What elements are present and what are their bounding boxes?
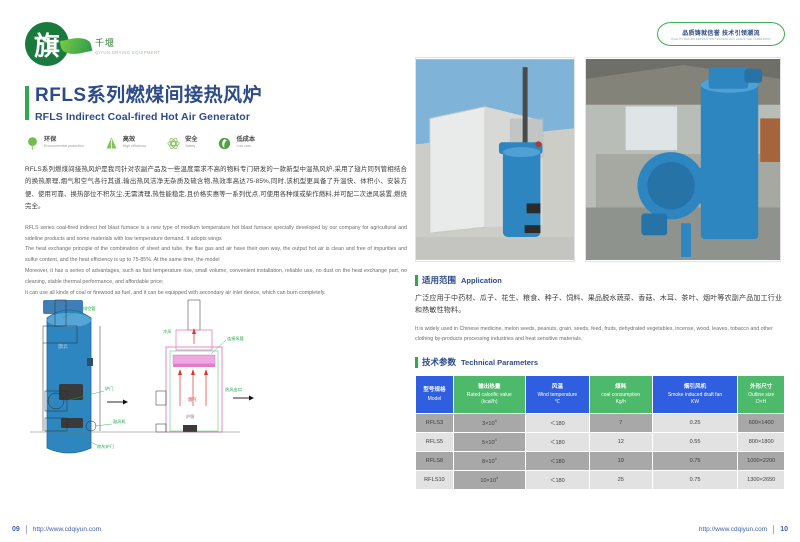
application-heading-cn: 适用范围: [422, 274, 456, 286]
technical-heading-cn: 技术参数: [422, 356, 456, 368]
footer-url-right[interactable]: http://www.cdqiyun.com: [699, 526, 767, 533]
product-schematic-diagram: 旗云 排空管 炉门 鼓风机 除灰炉门: [25, 288, 407, 503]
feature-label-en: Safety: [185, 144, 197, 148]
cell-size: 600×1400: [738, 414, 784, 432]
description-cn: RFLS系列燃煤间接热风炉是我司针对农副产品及一些温度需求不高的物料专门研发的一…: [25, 164, 407, 214]
diagram-label: 冷风: [163, 328, 172, 335]
product-photo-gallery: [415, 57, 785, 262]
cell-wind-temp: ＜180: [526, 471, 589, 489]
sprout-icon: [217, 136, 232, 151]
diagram-label: 连接风管: [227, 335, 244, 342]
col-unit: ℃: [555, 399, 561, 405]
cell-fan: 0.55: [653, 433, 738, 451]
cell-coal: 12: [590, 433, 652, 451]
col-unit: D×H: [756, 399, 766, 405]
cell-model: RFLS5: [416, 433, 453, 451]
cell-size: 1300×2650: [738, 471, 784, 489]
logo-wordmark: 千堰 QIYUN DRYING EQUIPMENT: [95, 36, 161, 55]
leaf-icon: [104, 136, 119, 151]
brand-logo: 旗 千堰 QIYUN DRYING EQUIPMENT: [25, 22, 407, 74]
cell-calorific: 3×104: [454, 414, 525, 432]
cell-wind-temp: ＜180: [526, 452, 589, 470]
cell-coal: 19: [590, 452, 652, 470]
schematic-cross-section: 烟气 炉膛 冷风 连接风管 热风出口: [145, 300, 254, 432]
table-header-row: 型号规格 Model 输出热量 Rated calorific value (k…: [416, 376, 784, 413]
product-title-en: RFLS Indirect Coal-fired Hot Air Generat…: [35, 111, 407, 123]
feature-item: 安全 Safety: [166, 136, 197, 151]
product-title-cn: RFLS系列燃煤间接热风炉: [35, 84, 407, 108]
column-header-coal-consumption: 煤耗 coal consumption Kg/h: [590, 376, 652, 413]
cell-model: RFLS8: [416, 452, 453, 470]
page-number-right: 10: [780, 526, 788, 533]
application-text-en: It is widely used in Chinese medicine, m…: [415, 324, 785, 345]
diagram-label: 炉门: [105, 385, 113, 392]
column-header-wind-temperature: 风温 Wind temperature ℃: [526, 376, 589, 413]
diagram-label: 烟气: [188, 396, 197, 403]
page-number-left: 09: [12, 526, 20, 533]
feature-label-cn: 环保: [44, 136, 84, 143]
badge-text-en: QUALITY BUILDS REPUTATION TECHNOLOGY LEA…: [671, 38, 771, 41]
diagram-label: 除灰炉门: [97, 443, 114, 450]
table-row: RFLS3 3×104 ＜180 7 0.25 600×1400: [416, 414, 784, 432]
cell-coal: 7: [590, 414, 652, 432]
column-header-model: 型号规格 Model: [416, 376, 453, 413]
cell-model: RFLS3: [416, 414, 453, 432]
logo-glyph: 旗: [34, 26, 60, 63]
technical-parameters-table: 型号规格 Model 输出热量 Rated calorific value (k…: [415, 375, 785, 490]
col-en: Rated calorific value: [467, 392, 512, 398]
col-en: Outline size: [748, 392, 774, 398]
feature-item: 高效 High efficiency: [104, 136, 146, 151]
footer-url-left[interactable]: http://www.cdqiyun.com: [33, 526, 101, 533]
col-cn: 烟引风机: [654, 383, 737, 391]
left-column: 旗 千堰 QIYUN DRYING EQUIPMENT RFLS系列燃煤间接热风…: [25, 22, 407, 299]
col-en: Smoke induced draft fan: [668, 392, 722, 398]
cell-calorific: 10×104: [454, 471, 525, 489]
col-cn: 风温: [527, 383, 588, 391]
cell-wind-temp: ＜180: [526, 414, 589, 432]
table-row: RFLS5 5×104 ＜180 12 0.55 800×1800: [416, 433, 784, 451]
product-photo-outdoor: [415, 57, 575, 262]
description-en-line: Moreover, it has a series of advantages,…: [25, 266, 407, 288]
application-heading: 适用范围 Application: [415, 274, 785, 286]
tree-icon: [25, 136, 40, 151]
cell-fan: 0.75: [653, 471, 738, 489]
right-column: 品质铸就信誉 技术引领潮流 QUALITY BUILDS REPUTATION …: [415, 22, 785, 490]
cell-fan: 0.25: [653, 414, 738, 432]
cell-fan: 0.75: [653, 452, 738, 470]
col-en: coal consumption: [601, 392, 640, 398]
brand-name-cn: 千堰: [95, 36, 161, 49]
feature-item: 环保 Environmental protection: [25, 136, 84, 151]
footer-divider: [773, 525, 774, 534]
product-photo-workshop: [585, 57, 781, 262]
cell-model: RFLS10: [416, 471, 453, 489]
feature-label-en: Environmental protection: [44, 144, 84, 148]
atom-icon: [166, 136, 181, 151]
column-header-calorific: 输出热量 Rated calorific value (kcal/h): [454, 376, 525, 413]
application-text-cn: 广泛应用于中药材、瓜子、花生、粮食、种子、饲料、果品脱水蔬菜、香菇、木耳、茶叶、…: [415, 293, 785, 318]
diagram-label: 炉膛: [186, 413, 194, 420]
feature-item: 低成本 Low cost: [217, 136, 255, 151]
feature-label-en: High efficiency: [123, 144, 146, 148]
table-row: RFLS8 8×104 ＜180 19 0.75 1000×2200: [416, 452, 784, 470]
table-row: RFLS10 10×104 ＜180 25 0.75 1300×2650: [416, 471, 784, 489]
col-cn: 煤耗: [591, 383, 651, 391]
cell-coal: 25: [590, 471, 652, 489]
furnace-product-image: 旗云: [43, 300, 93, 453]
feature-label-cn: 安全: [185, 136, 197, 143]
page-footer: 09 http://www.cdqiyun.com http://www.cdq…: [0, 512, 800, 542]
badge-text-cn: 品质铸就信誉 技术引领潮流: [682, 28, 760, 37]
diagram-label: 鼓风机: [113, 418, 126, 425]
description-en-line: RFLS series coal-fired indirect hot blas…: [25, 223, 407, 245]
col-cn: 输出热量: [455, 383, 524, 391]
svg-text:旗云: 旗云: [58, 343, 68, 350]
diagram-label: 排空管: [83, 305, 96, 312]
page-title: RFLS系列燃煤间接热风炉 RFLS Indirect Coal-fired H…: [25, 84, 407, 123]
column-header-draft-fan: 烟引风机 Smoke induced draft fan KW: [653, 376, 738, 413]
cell-size: 800×1800: [738, 433, 784, 451]
col-unit: Kg/h: [616, 399, 626, 405]
cell-calorific: 8×104: [454, 452, 525, 470]
technical-heading: 技术参数 Technical Parameters: [415, 356, 785, 368]
catalog-page: 旗 千堰 QIYUN DRYING EQUIPMENT RFLS系列燃煤间接热风…: [0, 0, 800, 542]
feature-label-cn: 低成本: [236, 136, 255, 143]
cell-size: 1000×2200: [738, 452, 784, 470]
feature-label-en: Low cost: [236, 144, 255, 148]
column-header-outline-size: 外形尺寸 Outline size D×H: [738, 376, 784, 413]
col-cn: 外形尺寸: [739, 383, 783, 391]
diagram-label: 热风出口: [225, 386, 242, 393]
cell-wind-temp: ＜180: [526, 433, 589, 451]
brand-name-en: QIYUN DRYING EQUIPMENT: [95, 50, 161, 55]
feature-list: 环保 Environmental protection 高效 High effi…: [25, 136, 407, 151]
col-unit: KW: [691, 399, 699, 405]
col-cn: 型号规格: [417, 386, 452, 394]
quality-badge: 品质铸就信誉 技术引领潮流 QUALITY BUILDS REPUTATION …: [657, 22, 785, 46]
description-en-line: The heat exchange principle of the combi…: [25, 244, 407, 266]
application-heading-en: Application: [461, 276, 502, 285]
col-en: Model: [428, 396, 442, 402]
col-unit: (kcal/h): [481, 399, 497, 405]
footer-left: 09 http://www.cdqiyun.com: [12, 525, 101, 534]
footer-divider: [26, 525, 27, 534]
footer-right: http://www.cdqiyun.com 10: [699, 525, 788, 534]
feature-label-cn: 高效: [123, 136, 146, 143]
technical-heading-en: Technical Parameters: [461, 358, 538, 367]
cell-calorific: 5×104: [454, 433, 525, 451]
col-en: Wind temperature: [537, 392, 577, 398]
